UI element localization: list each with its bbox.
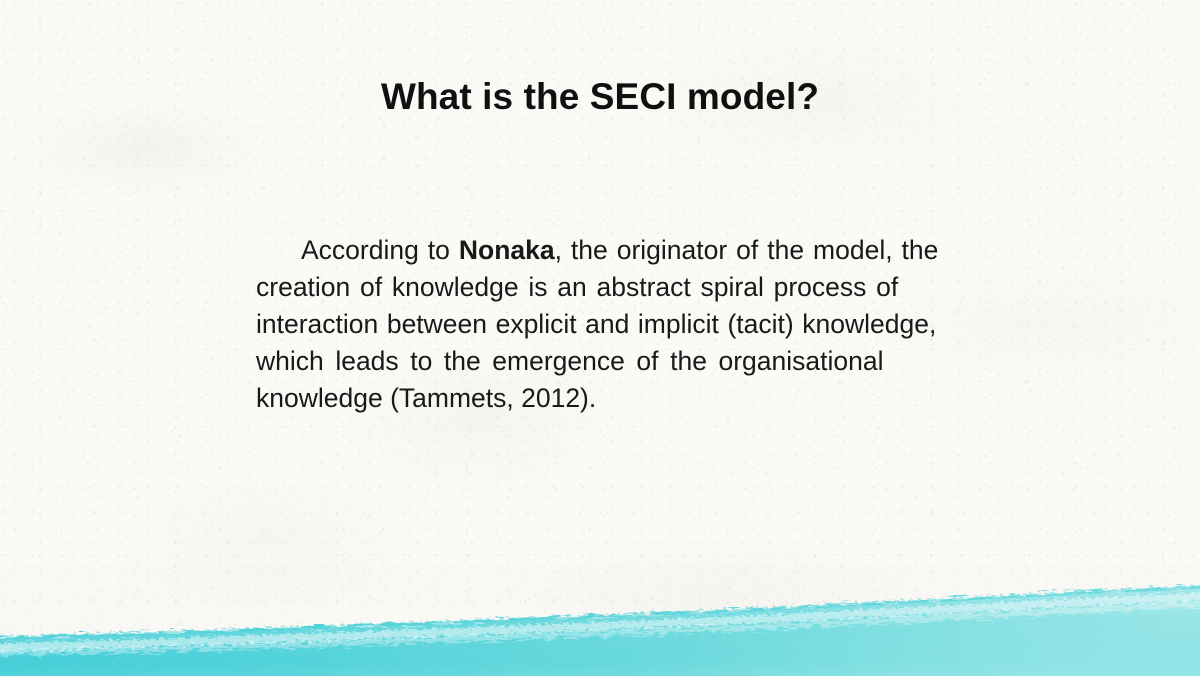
slide-title: What is the SECI model? bbox=[0, 75, 1200, 119]
body-line-3: interaction between explicit and implici… bbox=[256, 306, 1028, 343]
presentation-slide: What is the SECI model? According to Non… bbox=[0, 0, 1200, 676]
body-line-2: creation of knowledge is an abstract spi… bbox=[256, 269, 1028, 306]
body-text-plain: , the originator of the model, the bbox=[555, 235, 939, 265]
body-text-plain: According to bbox=[301, 235, 459, 265]
body-text-plain: knowledge (Tammets, 2012). bbox=[256, 383, 596, 413]
slide-body-text: According to Nonaka, the originator of t… bbox=[256, 232, 1028, 417]
body-line-4: which leads to the emergence of the orga… bbox=[256, 343, 1028, 380]
body-text-plain: creation of knowledge is an abstract spi… bbox=[256, 272, 898, 302]
body-line-1: According to Nonaka, the originator of t… bbox=[256, 232, 1028, 269]
body-text-plain: interaction between explicit and implici… bbox=[256, 309, 936, 339]
body-line-5: knowledge (Tammets, 2012). bbox=[256, 380, 1028, 417]
slide-content: What is the SECI model? According to Non… bbox=[0, 0, 1200, 676]
body-text-emphasis-nonaka: Nonaka bbox=[459, 235, 555, 265]
body-text-plain: which leads to the emergence of the orga… bbox=[256, 346, 884, 376]
